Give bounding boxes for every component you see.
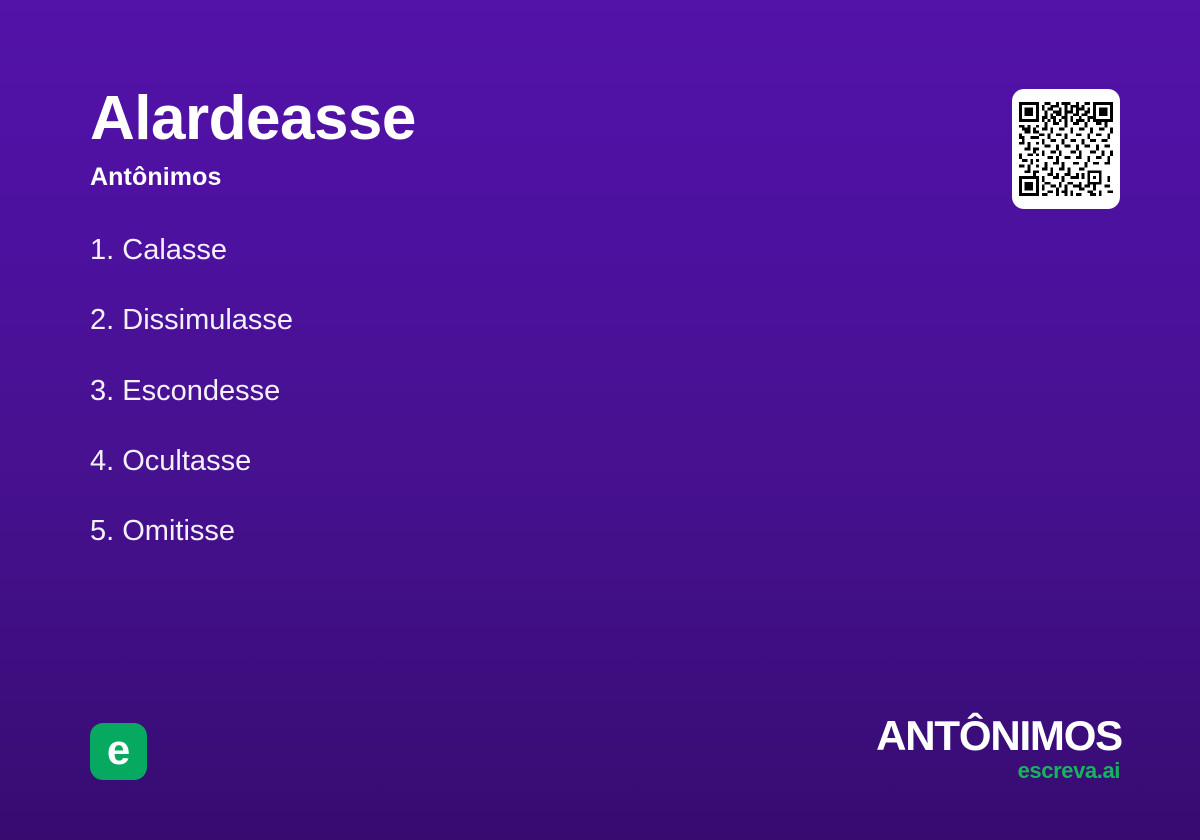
brand-subtitle: escreva.ai — [876, 760, 1120, 782]
brand-title: ANTÔNIMOS — [876, 715, 1122, 757]
list-item-index: 1. — [90, 234, 114, 266]
list-item-index: 2. — [90, 304, 114, 336]
list-item-label: Calasse — [122, 234, 227, 266]
list-item: 3. Escondesse — [90, 375, 910, 408]
page-title: Alardeasse — [90, 86, 950, 151]
list-item: 2. Dissimulasse — [90, 304, 910, 337]
list-item-index: 4. — [90, 445, 114, 477]
qr-code-container[interactable] — [1012, 89, 1120, 209]
list-item-index: 3. — [90, 375, 114, 407]
escreva-logo-icon: e — [90, 723, 147, 780]
list-item-label: Dissimulasse — [122, 304, 293, 336]
list-item-label: Ocultasse — [122, 445, 251, 477]
page-subtitle: Antônimos — [90, 163, 950, 192]
escreva-logo-letter: e — [107, 729, 130, 771]
qr-code-icon — [1019, 102, 1113, 196]
antonyms-list: 1. Calasse 2. Dissimulasse 3. Escondesse… — [90, 234, 910, 549]
brand-lockup: ANTÔNIMOS escreva.ai — [876, 715, 1122, 782]
header: Alardeasse Antônimos — [90, 86, 950, 192]
list-item: 4. Ocultasse — [90, 445, 910, 478]
list-item-label: Escondesse — [122, 375, 280, 407]
antonyms-card: Alardeasse Antônimos — [0, 0, 1200, 840]
list-item: 5. Omitisse — [90, 515, 910, 548]
list-item: 1. Calasse — [90, 234, 910, 267]
list-item-label: Omitisse — [122, 515, 235, 547]
list-item-index: 5. — [90, 515, 114, 547]
